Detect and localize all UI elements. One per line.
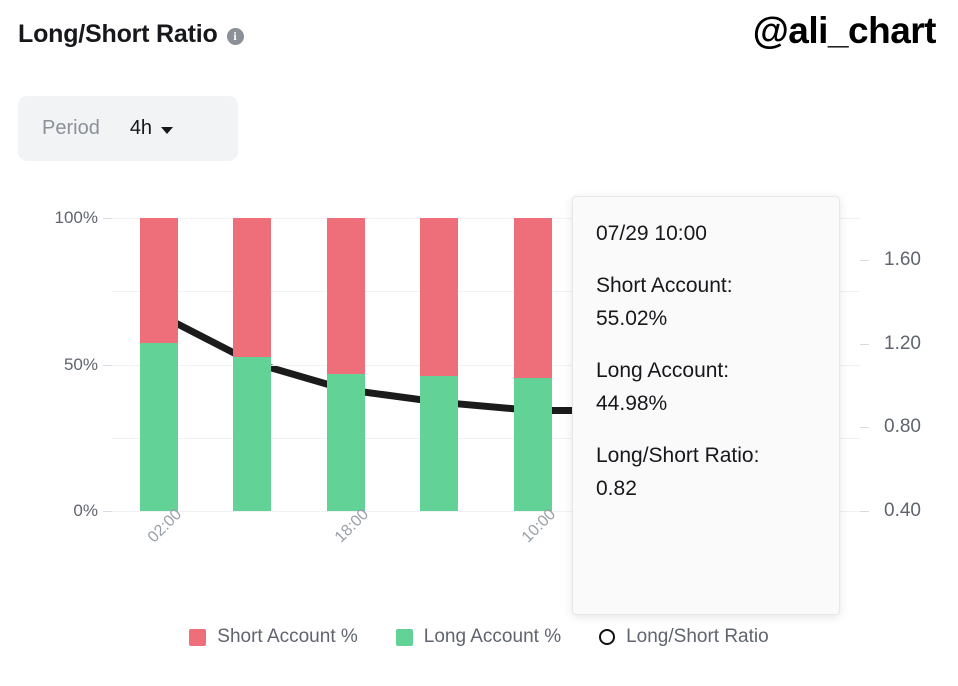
stacked-bar[interactable] [514,218,552,511]
bar-segment-short [514,218,552,378]
left-axis-tick [103,511,112,512]
bar-segment-long [140,343,178,511]
legend-ring-icon [599,629,615,645]
bar-segment-short [140,218,178,343]
legend-item[interactable]: Short Account % [189,626,357,648]
stacked-bar[interactable] [233,218,271,511]
tooltip-timestamp: 07/29 10:00 [596,223,839,244]
tooltip-ratio-value: 0.82 [596,478,839,499]
tooltip-short-label: Short Account: [596,275,839,296]
right-axis-tick [860,427,869,428]
bar-segment-long [327,374,365,511]
left-axis-label: 50% [64,355,98,375]
tooltip-long-label: Long Account: [596,360,839,381]
tooltip-ratio-label: Long/Short Ratio: [596,445,839,466]
bar-segment-short [327,218,365,374]
legend-label: Long Account % [424,626,561,648]
right-axis-label: 0.80 [884,416,921,438]
stacked-bar[interactable] [327,218,365,511]
left-axis-tick [103,218,112,219]
left-axis-tick [103,365,112,366]
left-axis-label: 100% [55,208,98,228]
right-axis-label: 1.60 [884,249,921,271]
bar-segment-long [233,357,271,511]
long-short-ratio-chart-panel: Long/Short Ratio i @ali_chart Period 4h … [0,0,958,686]
legend-label: Long/Short Ratio [626,626,769,648]
tooltip-short-value: 55.02% [596,308,839,329]
right-axis-tick [860,260,869,261]
tooltip-long-value: 44.98% [596,393,839,414]
legend-item[interactable]: Long Account % [396,626,561,648]
chart-legend: Short Account %Long Account %Long/Short … [0,626,958,648]
bar-segment-long [420,376,458,511]
stacked-bar[interactable] [140,218,178,511]
right-axis-tick [860,344,869,345]
legend-item[interactable]: Long/Short Ratio [599,626,769,648]
bar-segment-long [514,378,552,511]
chart-tooltip: 07/29 10:00 Short Account: 55.02% Long A… [572,196,840,615]
left-axis-label: 0% [73,501,98,521]
bar-segment-short [420,218,458,376]
legend-swatch-icon [189,629,206,646]
legend-label: Short Account % [217,626,357,648]
bar-segment-short [233,218,271,357]
right-axis-label: 0.40 [884,500,921,522]
stacked-bar[interactable] [420,218,458,511]
right-axis-tick [860,511,869,512]
legend-swatch-icon [396,629,413,646]
right-axis-label: 1.20 [884,333,921,355]
